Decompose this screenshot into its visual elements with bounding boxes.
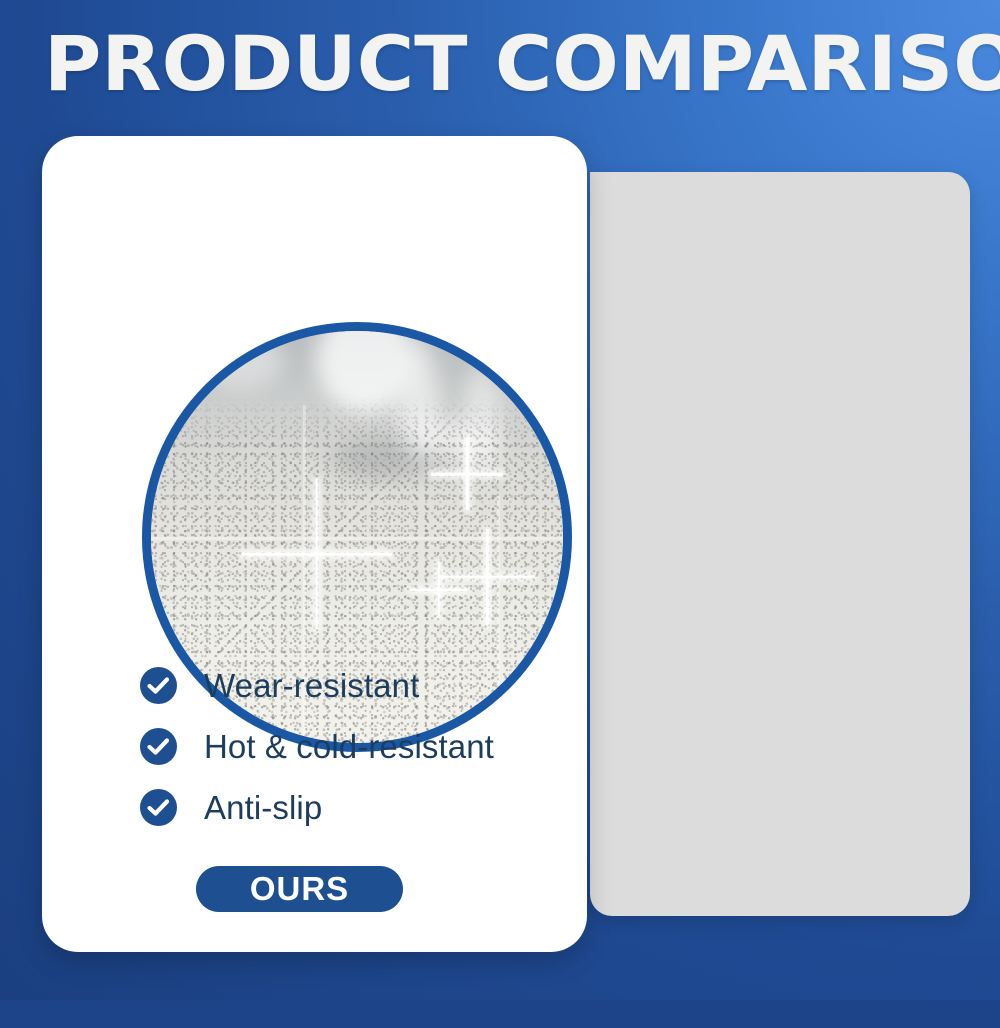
infographic-root: PRODUCT COMPARISON Pain	[0, 0, 1000, 1000]
list-item: Hot & cold-resistant	[140, 716, 560, 777]
ours-card: Wear-resistant Hot & cold-resistant Anti…	[42, 136, 587, 952]
reflection-highlight	[200, 331, 282, 389]
check-circle-icon	[140, 789, 177, 826]
others-card: Paint peeling Wrinkling Easy to slip	[590, 172, 970, 916]
check-circle-icon	[140, 667, 177, 704]
ours-feature-list: Wear-resistant Hot & cold-resistant Anti…	[140, 655, 560, 838]
list-item-label: Anti-slip	[204, 789, 322, 827]
list-item-label: Wear-resistant	[204, 667, 419, 705]
page-title: PRODUCT COMPARISON	[44, 28, 992, 100]
ours-badge: OURS	[196, 866, 403, 912]
list-item: Wear-resistant	[140, 655, 560, 716]
list-item-label: Hot & cold-resistant	[204, 728, 494, 766]
list-item: Anti-slip	[140, 777, 560, 838]
check-circle-icon	[140, 728, 177, 765]
grout-line	[151, 537, 563, 540]
